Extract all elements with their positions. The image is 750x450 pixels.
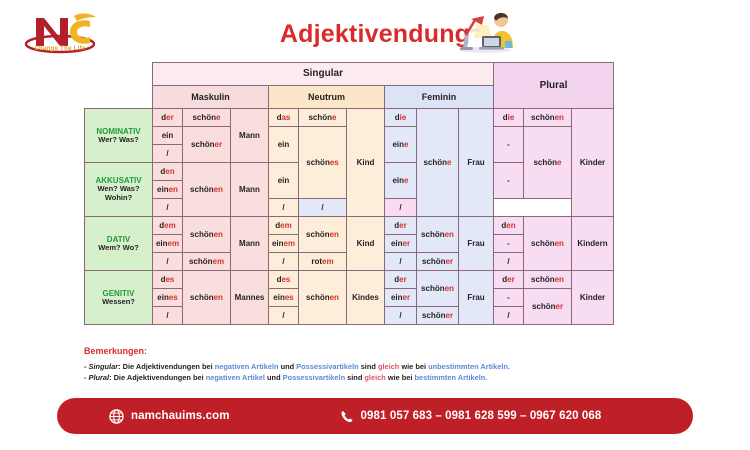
cell-nom-fem-art-2: eine	[385, 127, 417, 163]
table-row-genitiv-1: GENITIV Wessen? des schönen Mannes des s…	[85, 271, 614, 289]
table-group-header-row: Singular Plural	[85, 63, 614, 86]
cell-dat-neut-adj-3: rotem	[299, 253, 347, 271]
note-hl4: bestimmten Artikeln.	[415, 373, 488, 382]
case-label-nominativ: NOMINATIV Wer? Was?	[85, 109, 153, 163]
note-label: Plural	[89, 373, 110, 382]
cell-gen-mask-art-3: /	[153, 307, 183, 325]
cell-dat-neut-art-2: einem	[269, 235, 299, 253]
note-seg2: und	[279, 362, 297, 371]
case-questions: Wen? Was? Wohin?	[85, 185, 152, 202]
cell-gen-mask-noun: Mannes	[231, 271, 269, 325]
cell-akk-neut-art-3: /	[269, 199, 299, 217]
table-corner-cell	[85, 63, 153, 109]
footer-website[interactable]: namchauims.com	[109, 409, 230, 424]
cell-gen-plur-art-1: der	[494, 271, 524, 289]
cell-dat-fem-adj-1: schönen	[417, 217, 459, 253]
case-label-akkusativ: AKKUSATIV Wen? Was? Wohin?	[85, 163, 153, 217]
cell-gen-fem-art-3: /	[385, 307, 417, 325]
cell-dat-neut-art-3: /	[269, 253, 299, 271]
cell-akk-mask-art-3: /	[153, 199, 183, 217]
cell-akk-plur-art-1: -	[494, 163, 524, 199]
cell-nom-mask-art-2: ein	[153, 127, 183, 145]
cell-dat-mask-art-1: dem	[153, 217, 183, 235]
cell-nom-akk-plur-adj-2: schöne	[524, 127, 572, 199]
footer-phone-text: 0981 057 683 – 0981 628 599 – 0967 620 0…	[361, 410, 602, 422]
header-feminin: Feminin	[385, 86, 494, 109]
cell-nom-plur-adj-1: schönen	[524, 109, 572, 127]
case-questions: Wer? Was?	[85, 136, 152, 145]
cell-dat-mask-art-3: /	[153, 253, 183, 271]
page-title: Adjektivendung	[0, 20, 750, 49]
note-hl4: unbestimmten Artikeln.	[428, 362, 510, 371]
cell-dat-neut-noun: Kind	[347, 217, 385, 271]
note-seg3: sind	[359, 362, 378, 371]
cell-gen-fem-noun: Frau	[459, 271, 494, 325]
note-line-plural: - Plural: Die Adjektivendungen bei negat…	[84, 372, 684, 383]
cell-nom-mask-art-1: der	[153, 109, 183, 127]
cell-nom-neut-adj-1: schöne	[299, 109, 347, 127]
cell-akk-mask-noun: Mann	[231, 163, 269, 217]
note-label: Singular	[89, 362, 119, 371]
cell-akk-mask-art-2: einen	[153, 181, 183, 199]
cell-nom-akk-fem-noun: Frau	[459, 109, 494, 217]
cell-nom-mask-art-3: /	[153, 145, 183, 163]
cell-akk-fem-art-3: /	[299, 199, 347, 217]
cell-nom-mask-noun: Mann	[231, 109, 269, 163]
notes-heading: Bemerkungen:	[84, 345, 684, 359]
cell-gen-neut-adj: schönen	[299, 271, 347, 325]
cell-nom-plur-art-2: -	[494, 127, 524, 163]
cell-gen-fem-adj-1: schönen	[417, 271, 459, 307]
cell-gen-plur-adj-2: schöner	[524, 289, 572, 325]
cell-gen-mask-art-2: eines	[153, 289, 183, 307]
cell-gen-plur-art-2: -	[494, 289, 524, 307]
note-line-singular: - Singular: Die Adjektivendungen bei neg…	[84, 361, 684, 372]
case-questions: Wessen?	[85, 298, 152, 307]
cell-akk-neut-art-1: ein	[269, 163, 299, 199]
footer-website-text: namchauims.com	[131, 410, 230, 422]
cell-dat-plur-art-2: -	[494, 235, 524, 253]
cell-nom-plur-art-1: die	[494, 109, 524, 127]
cell-gen-neut-art-2: eines	[269, 289, 299, 307]
note-seg1: : Die Adjektivendungen bei	[118, 362, 215, 371]
cell-nom-akk-neut-noun: Kind	[347, 109, 385, 217]
cell-dat-plur-noun: Kindern	[572, 217, 614, 271]
note-seg1: : Die Adjektivendungen bei	[109, 373, 206, 382]
phone-icon	[340, 409, 354, 424]
cell-gen-fem-art-1: der	[385, 271, 417, 289]
cell-nom-mask-adj-2: schöner	[183, 127, 231, 163]
case-label-dativ: DATIV Wem? Wo?	[85, 217, 153, 271]
cell-nom-mask-adj-1: schöne	[183, 109, 231, 127]
cell-gen-plur-adj-1: schönen	[524, 271, 572, 289]
cell-gen-plur-art-3: /	[494, 307, 524, 325]
note-hl1: negativen Artikeln	[215, 362, 279, 371]
cell-dat-mask-noun: Mann	[231, 217, 269, 271]
cell-dat-fem-art-3: /	[385, 253, 417, 271]
cell-nom-akk-plur-noun: Kinder	[572, 109, 614, 217]
header-plural: Plural	[494, 63, 614, 109]
page-root: Change The Life Adjektivendung Singular	[0, 0, 750, 450]
case-questions: Wem? Wo?	[85, 244, 152, 253]
note-seg2: und	[265, 373, 283, 382]
cell-gen-neut-art-1: des	[269, 271, 299, 289]
note-seg4: wie bei	[399, 362, 428, 371]
note-hl2: Possessivartikeln	[296, 362, 358, 371]
note-seg4: wie bei	[386, 373, 415, 382]
cell-dat-plur-art-3: /	[494, 253, 524, 271]
cell-gen-neut-noun: Kindes	[347, 271, 385, 325]
note-seg3: sind	[345, 373, 364, 382]
case-label-genitiv: GENITIV Wessen?	[85, 271, 153, 325]
table-row-nominativ-1: NOMINATIV Wer? Was? der schöne Mann das …	[85, 109, 614, 127]
adjective-endings-table: Singular Plural Maskulin Neutrum Feminin…	[84, 62, 614, 325]
cell-gen-plur-noun: Kinder	[572, 271, 614, 325]
cell-nom-neut-art-2: ein	[269, 127, 299, 163]
cell-dat-plur-adj: schönen	[524, 217, 572, 271]
cell-gen-neut-art-3: /	[269, 307, 299, 325]
cell-dat-fem-art-1: der	[385, 217, 417, 235]
cell-dat-mask-adj-1: schönen	[183, 217, 231, 253]
cell-akk-mask-art-1: den	[153, 163, 183, 181]
cell-gen-fem-art-2: einer	[385, 289, 417, 307]
cell-akk-fem-art-1: eine	[385, 163, 417, 199]
footer-bar: namchauims.com 0981 057 683 – 0981 628 5…	[57, 398, 693, 434]
cell-gen-fem-adj-3: schöner	[417, 307, 459, 325]
cell-dat-fem-adj-3: schöner	[417, 253, 459, 271]
footer-phone[interactable]: 0981 057 683 – 0981 628 599 – 0967 620 0…	[340, 409, 602, 424]
cell-nom-akk-neut-adj-2: schönes	[299, 127, 347, 199]
cell-dat-fem-noun: Frau	[459, 217, 494, 271]
cell-dat-mask-adj-3: schönem	[183, 253, 231, 271]
cell-dat-neut-adj-1: schönen	[299, 217, 347, 253]
cell-nom-akk-fem-adj: schöne	[417, 109, 459, 217]
note-hl3: gleich	[378, 362, 399, 371]
cell-dat-plur-art-1: den	[494, 217, 524, 235]
note-hl1: negativen Artikel	[206, 373, 265, 382]
cell-dat-fem-art-2: einer	[385, 235, 417, 253]
table-row-dativ-1: DATIV Wem? Wo? dem schönen Mann dem schö…	[85, 217, 614, 235]
cell-nom-neut-art-1: das	[269, 109, 299, 127]
header-maskulin: Maskulin	[153, 86, 269, 109]
header-neutrum: Neutrum	[269, 86, 385, 109]
note-hl2: Possessivartikeln	[283, 373, 345, 382]
cell-dat-neut-art-1: dem	[269, 217, 299, 235]
cell-gen-mask-art-1: des	[153, 271, 183, 289]
student-lamp-icon	[455, 8, 515, 54]
note-hl3: gleich	[364, 373, 385, 382]
notes-section: Bemerkungen: - Singular: Die Adjektivend…	[84, 345, 684, 384]
globe-icon	[109, 409, 124, 424]
cell-gen-mask-adj: schönen	[183, 271, 231, 325]
cell-akk-plur-art-3: /	[385, 199, 417, 217]
cell-akk-mask-adj: schönen	[183, 163, 231, 217]
cell-nom-fem-art-1: die	[385, 109, 417, 127]
header-singular: Singular	[153, 63, 494, 86]
cell-dat-mask-art-2: einem	[153, 235, 183, 253]
